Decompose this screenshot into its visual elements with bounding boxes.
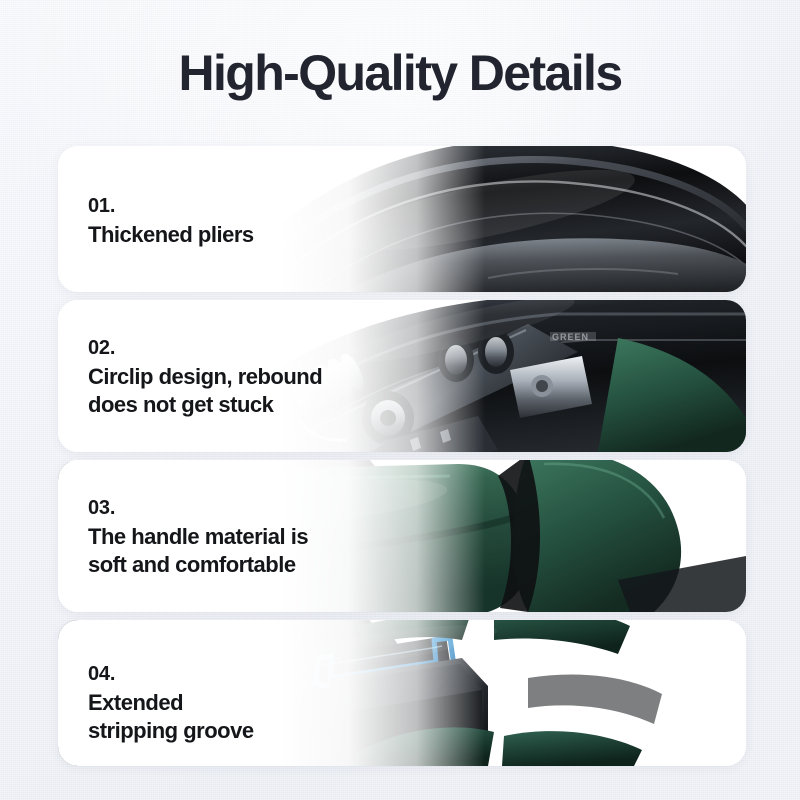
card-4-label: Extended stripping groove (88, 689, 254, 744)
card-3-text: 03. The handle material is soft and comf… (88, 496, 308, 579)
card-2-label: Circlip design, rebound does not get stu… (88, 363, 322, 418)
detail-card-1: 01. Thickened pliers (58, 146, 746, 292)
card-2-text: 02. Circlip design, rebound does not get… (88, 336, 322, 419)
card-3-label: The handle material is soft and comforta… (88, 523, 308, 578)
card-4-text: 04. Extended stripping groove (88, 662, 254, 745)
brand-engraving: GREEN (550, 332, 596, 342)
card-4-number: 04. (88, 662, 254, 687)
card-2-number: 02. (88, 336, 322, 361)
card-1-text: 01. Thickened pliers (88, 194, 254, 249)
detail-card-4: 04. Extended stripping groove (58, 620, 746, 766)
card-3-number: 03. (88, 496, 308, 521)
card-1-label: Thickened pliers (88, 221, 254, 249)
detail-card-3: 03. The handle material is soft and comf… (58, 460, 746, 612)
svg-text:GREEN: GREEN (552, 332, 589, 342)
detail-card-2: GREEN 02. Circlip design, rebound does n… (58, 300, 746, 452)
card-1-number: 01. (88, 194, 254, 219)
page-title: High-Quality Details (0, 48, 800, 98)
